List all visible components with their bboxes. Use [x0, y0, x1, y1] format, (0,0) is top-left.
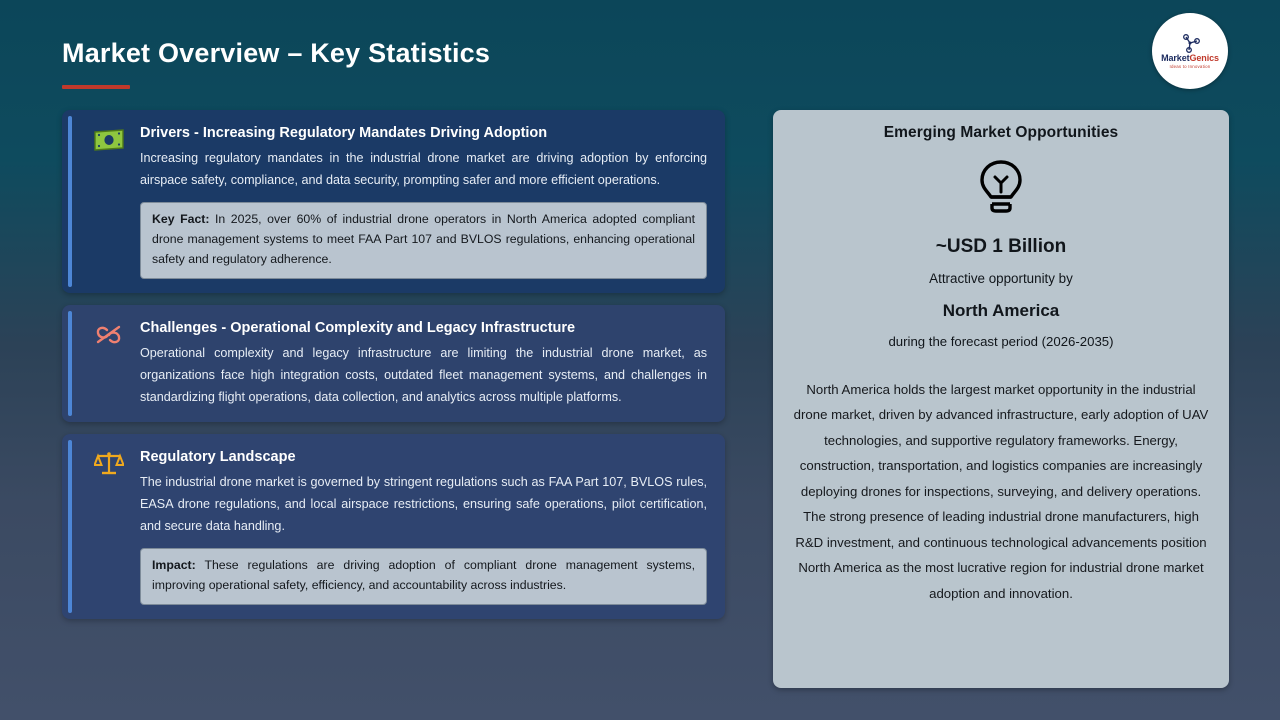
panel-paragraph: North America holds the largest market o…	[793, 377, 1209, 606]
title-underline-rule	[62, 85, 130, 89]
card-title: Challenges - Operational Complexity and …	[140, 319, 707, 337]
molecule-network-icon	[1177, 33, 1203, 54]
card-content: Challenges - Operational Complexity and …	[140, 319, 707, 408]
brand-logo: MarketGenics Ideas to Innovation	[1152, 13, 1228, 89]
card-regulatory-landscape: Regulatory Landscape The industrial dron…	[62, 434, 725, 619]
panel-title: Emerging Market Opportunities	[793, 124, 1209, 142]
forecast-period: during the forecast period (2026-2035)	[793, 334, 1209, 349]
card-title: Drivers - Increasing Regulatory Mandates…	[140, 124, 707, 142]
opportunity-value: ~USD 1 Billion	[793, 236, 1209, 258]
card-description: Increasing regulatory mandates in the in…	[140, 148, 707, 191]
card-content: Drivers - Increasing Regulatory Mandates…	[140, 124, 707, 191]
card-description: The industrial drone market is governed …	[140, 472, 707, 537]
card-header: Drivers - Increasing Regulatory Mandates…	[92, 124, 707, 191]
statistics-card-list: Drivers - Increasing Regulatory Mandates…	[62, 110, 725, 631]
key-fact-text: In 2025, over 60% of industrial drone op…	[152, 212, 695, 266]
card-title: Regulatory Landscape	[140, 448, 707, 466]
impact-text: These regulations are driving adoption o…	[152, 558, 695, 592]
impact-callout: Impact: These regulations are driving ad…	[140, 548, 707, 605]
card-description: Operational complexity and legacy infras…	[140, 343, 707, 408]
opportunity-subtitle: Attractive opportunity by	[793, 271, 1209, 286]
key-fact-callout: Key Fact: In 2025, over 60% of industria…	[140, 202, 707, 279]
logo-word-genics: Genics	[1190, 53, 1219, 63]
card-drivers: Drivers - Increasing Regulatory Mandates…	[62, 110, 725, 293]
card-challenges: Challenges - Operational Complexity and …	[62, 305, 725, 422]
logo-word-market: Market	[1161, 53, 1189, 63]
card-content: Regulatory Landscape The industrial dron…	[140, 448, 707, 537]
impact-label: Impact:	[152, 558, 196, 572]
emerging-market-opportunities-panel: Emerging Market Opportunities ~USD 1 Bil…	[773, 110, 1229, 688]
broken-link-icon	[92, 319, 126, 349]
logo-wordmark: MarketGenics	[1161, 54, 1219, 63]
page-title: Market Overview – Key Statistics	[62, 38, 490, 69]
opportunity-region: North America	[793, 301, 1209, 321]
lightbulb-icon	[793, 158, 1209, 216]
card-header: Challenges - Operational Complexity and …	[92, 319, 707, 408]
card-header: Regulatory Landscape The industrial dron…	[92, 448, 707, 537]
money-banknote-icon	[92, 124, 126, 154]
key-fact-label: Key Fact:	[152, 212, 209, 226]
logo-tagline: Ideas to Innovation	[1170, 64, 1211, 69]
scales-of-justice-icon	[92, 448, 126, 478]
